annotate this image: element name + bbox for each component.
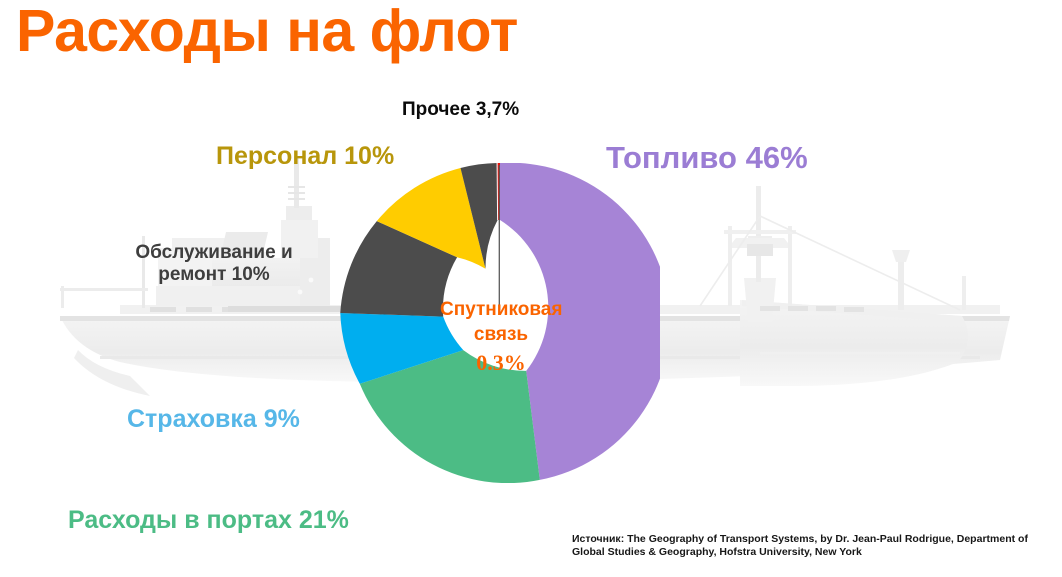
label-other: Прочее 3,7% bbox=[402, 99, 519, 121]
label-staff: Персонал 10% bbox=[216, 142, 394, 172]
label-fuel: Топливо 46% bbox=[606, 140, 808, 177]
donut-separator bbox=[497, 163, 498, 220]
ship-right bbox=[700, 186, 981, 392]
page-title: Расходы на флот bbox=[16, 1, 518, 63]
label-ports: Расходы в портах 21% bbox=[68, 506, 349, 536]
label-maintenance: Обслуживание и ремонт 10% bbox=[118, 242, 310, 287]
label-insurance: Страховка 9% bbox=[127, 405, 300, 435]
source-note: Источник: The Geography of Transport Sys… bbox=[572, 533, 1054, 560]
label-satellite-name: Спутниковая связь bbox=[440, 299, 562, 345]
label-satellite-percent: 0.3% bbox=[440, 348, 562, 377]
label-satellite: Спутниковая связь 0.3% bbox=[440, 297, 562, 377]
slide-canvas: Расходы на флот Прочее 3,7% П bbox=[0, 0, 1062, 577]
